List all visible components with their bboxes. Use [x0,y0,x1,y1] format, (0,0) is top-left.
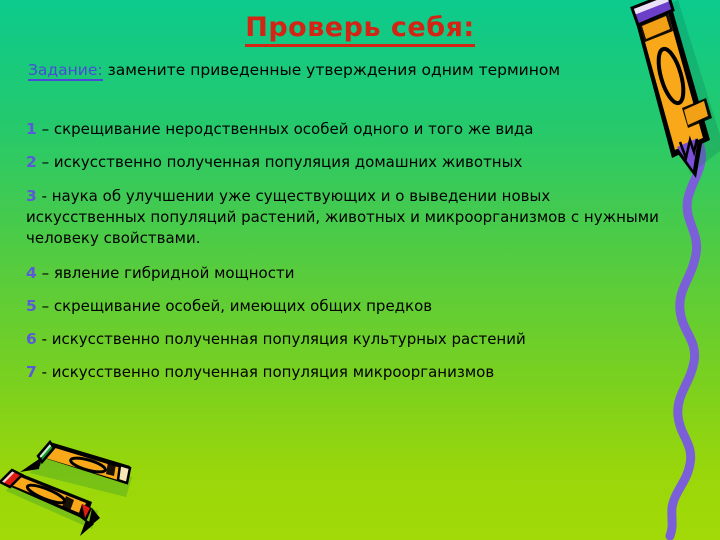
list-item-dash: - [37,330,52,348]
list-item-number: 2 [26,153,37,171]
list-item-text: скрещивание особей, имеющих общих предко… [54,297,432,315]
list-item-number: 5 [26,297,37,315]
task-label: Задание: [28,61,103,81]
list-item-dash: - [37,363,52,381]
list-item: 1 – скрещивание неродственных особей одн… [26,120,666,139]
list-item: 5 – скрещивание особей, имеющих общих пр… [26,297,666,316]
list-item-dash: – [37,297,54,315]
task-text: замените приведенные утверждения одним т… [103,61,560,79]
list-item-text: наука об улучшении уже существующих и о … [26,187,659,247]
list-item-dash: - [37,187,52,205]
page-title: Проверь себя: [0,12,720,43]
list-item-dash: – [37,153,54,171]
list-item-number: 6 [26,330,37,348]
list-item-number: 4 [26,264,37,282]
list-item: 4 – явление гибридной мощности [26,264,666,283]
list-item-text: скрещивание неродственных особей одного … [54,120,534,138]
list-item-number: 1 [26,120,37,138]
list-item-dash: – [37,264,54,282]
list-item-text: искусственно полученная популяция домашн… [54,153,523,171]
list-item: 7 - искусственно полученная популяция ми… [26,363,666,382]
list-item-text: искусственно полученная популяция микроо… [52,363,494,381]
list-item-number: 7 [26,363,37,381]
slide-canvas: Проверь себя: Задание: замените приведен… [0,0,720,540]
page-title-text: Проверь себя: [245,12,474,47]
list-item: 2 – искусственно полученная популяция до… [26,153,666,172]
task-instruction: Задание: замените приведенные утверждени… [28,61,688,79]
list-item-dash: – [37,120,54,138]
list-item-number: 3 [26,187,37,205]
list-item: 6 - искусственно полученная популяция ку… [26,330,666,349]
statement-list: 1 – скрещивание неродственных особей одн… [26,120,666,396]
list-item-text: искусственно полученная популяция культу… [52,330,526,348]
list-item: 3 - наука об улучшении уже существующих … [26,186,666,249]
list-item-text: явление гибридной мощности [54,264,295,282]
